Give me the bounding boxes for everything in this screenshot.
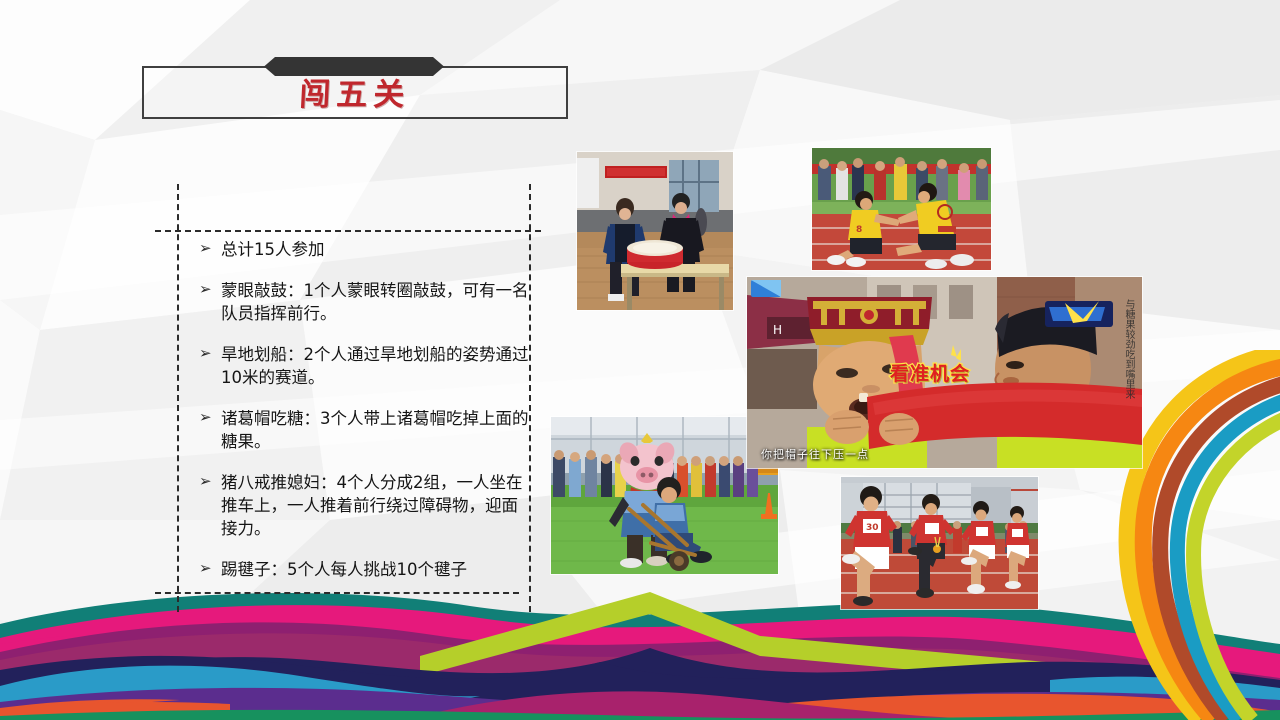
overlay-vertical-text: 与糖果较劲吃到嘴里来 — [1120, 299, 1136, 399]
bullet-arrow-icon: ➢ — [199, 407, 221, 429]
bullet-text: 蒙眼敲鼓：1个人蒙眼转圈敲鼓，可有一名队员指挥前行。 — [221, 279, 529, 325]
panel-border-right — [529, 184, 531, 612]
list-item: ➢ 猪八戒推媳妇：4个人分成2组，一人坐在推车上，一人推着前行绕过障碍物，迎面接… — [199, 471, 529, 540]
bullet-list: ➢ 总计15人参加 ➢ 蒙眼敲鼓：1个人蒙眼转圈敲鼓，可有一名队员指挥前行。 ➢… — [199, 238, 529, 599]
panel-border-left — [177, 184, 179, 612]
list-item: ➢ 踢毽子：5个人每人挑战10个毽子 — [199, 558, 529, 581]
overlay-catchphrase: 看准机会 — [890, 359, 970, 386]
svg-text:8: 8 — [856, 225, 862, 235]
bullet-text: 总计15人参加 — [221, 238, 529, 261]
bullet-text: 踢毽子：5个人每人挑战10个毽子 — [221, 558, 529, 581]
photo-blindfold-drum — [577, 152, 733, 310]
svg-text:30: 30 — [866, 523, 879, 533]
list-item: ➢ 诸葛帽吃糖：3个人带上诸葛帽吃掉上面的糖果。 — [199, 407, 529, 453]
photo-shuttlecock-kicking: 30 — [841, 477, 1038, 609]
bullet-text: 诸葛帽吃糖：3个人带上诸葛帽吃掉上面的糖果。 — [221, 407, 529, 453]
photo-dryland-rowing: 8 — [812, 148, 991, 270]
bullet-arrow-icon: ➢ — [199, 343, 221, 365]
bullet-text: 猪八戒推媳妇：4个人分成2组，一人坐在推车上，一人推着前行绕过障碍物，迎面接力。 — [221, 471, 529, 540]
photo-pig-wheelbarrow — [551, 417, 778, 574]
bullet-arrow-icon: ➢ — [199, 238, 221, 260]
bullet-arrow-icon: ➢ — [199, 471, 221, 493]
slide-canvas: 闯五关 ➢ 总计15人参加 ➢ 蒙眼敲鼓：1个人蒙眼转圈敲鼓，可有一名队员指挥前… — [0, 0, 1280, 720]
list-item: ➢ 总计15人参加 — [199, 238, 529, 261]
list-item: ➢ 旱地划船：2个人通过旱地划船的姿势通过10米的赛道。 — [199, 343, 529, 389]
bullet-arrow-icon: ➢ — [199, 558, 221, 580]
dashed-content-panel: ➢ 总计15人参加 ➢ 蒙眼敲鼓：1个人蒙眼转圈敲鼓，可有一名队员指挥前行。 ➢… — [177, 202, 529, 602]
panel-border-top — [155, 230, 541, 232]
page-title: 闯五关 — [141, 66, 570, 119]
title-banner: 闯五关 — [142, 66, 568, 119]
list-item: ➢ 蒙眼敲鼓：1个人蒙眼转圈敲鼓，可有一名队员指挥前行。 — [199, 279, 529, 325]
overlay-subtitle: 你把帽子往下压一点 — [761, 446, 869, 462]
bullet-arrow-icon: ➢ — [199, 279, 221, 301]
photo-tvshow-hat-candy: H — [747, 277, 1142, 468]
svg-text:H: H — [773, 323, 782, 337]
bullet-text: 旱地划船：2个人通过旱地划船的姿势通过10米的赛道。 — [221, 343, 529, 389]
